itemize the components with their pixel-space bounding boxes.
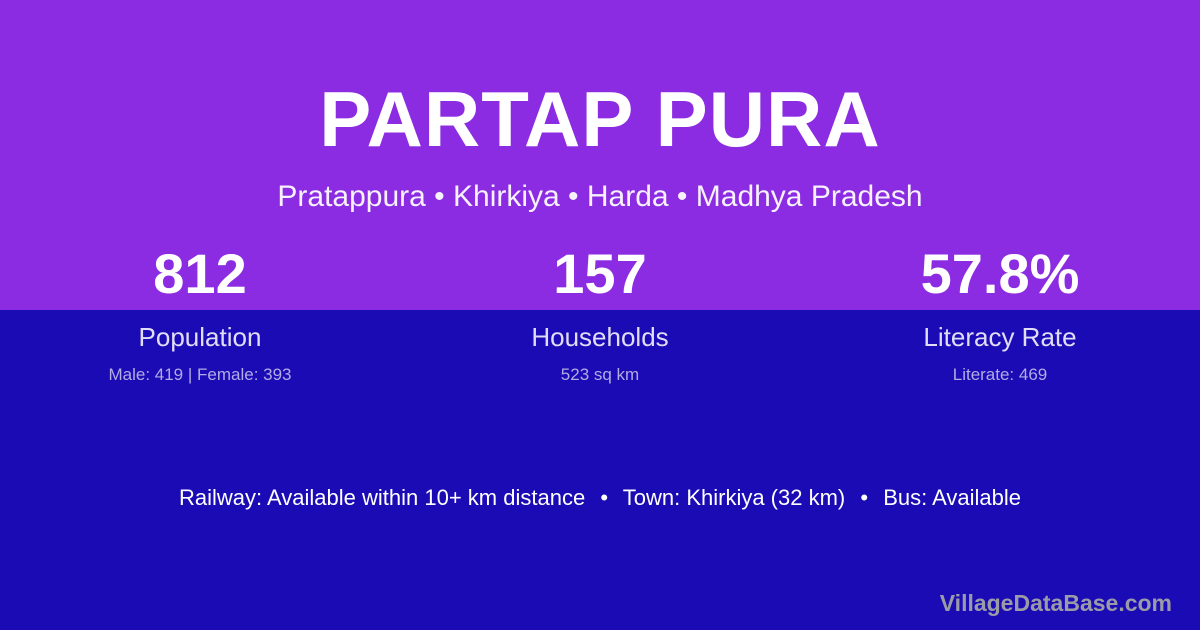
stat-label: Households	[400, 324, 800, 350]
railway-info: Railway: Available within 10+ km distanc…	[179, 485, 585, 510]
stat-value: 157	[400, 246, 800, 302]
breadcrumb: Pratappura • Khirkiya • Harda • Madhya P…	[0, 182, 1200, 212]
stat-sublabel: Male: 419 | Female: 393	[0, 366, 400, 383]
stat-value: 57.8%	[800, 246, 1200, 302]
town-info: Town: Khirkiya (32 km)	[623, 485, 846, 510]
stat-literacy-rate: 57.8% Literacy Rate Literate: 469	[800, 246, 1200, 383]
bullet-separator: •	[851, 487, 877, 509]
page-title: PARTAP PURA	[0, 80, 1200, 158]
village-info-card: PARTAP PURA Pratappura • Khirkiya • Hard…	[0, 0, 1200, 630]
bus-info: Bus: Available	[883, 485, 1021, 510]
stat-label: Literacy Rate	[800, 324, 1200, 350]
stat-population: 812 Population Male: 419 | Female: 393	[0, 246, 400, 383]
site-brand-watermark: VillageDataBase.com	[940, 592, 1172, 615]
stat-sublabel: Literate: 469	[800, 366, 1200, 383]
stat-sublabel: 523 sq km	[400, 366, 800, 383]
stat-value: 812	[0, 246, 400, 302]
stat-label: Population	[0, 324, 400, 350]
amenities-line: Railway: Available within 10+ km distanc…	[0, 487, 1200, 509]
stat-households: 157 Households 523 sq km	[400, 246, 800, 383]
bullet-separator: •	[591, 487, 617, 509]
stats-row: 812 Population Male: 419 | Female: 393 1…	[0, 246, 1200, 383]
card-header: PARTAP PURA Pratappura • Khirkiya • Hard…	[0, 0, 1200, 212]
